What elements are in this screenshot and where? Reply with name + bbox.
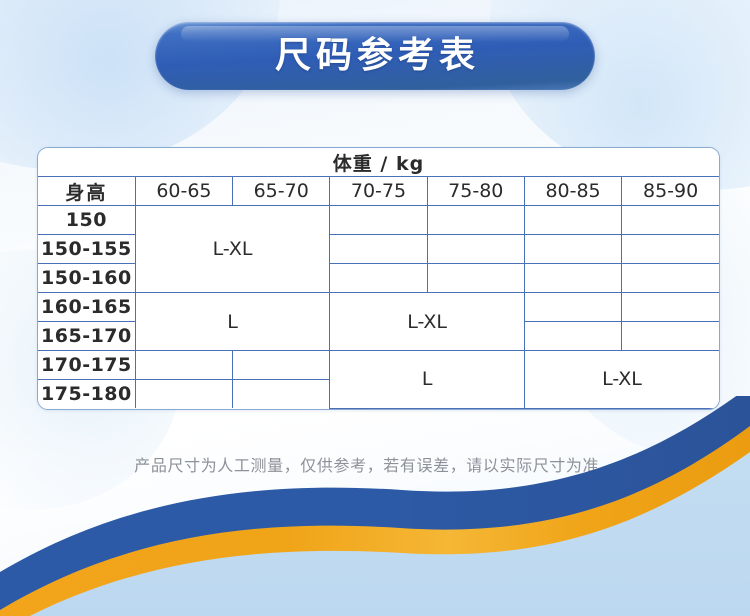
empty-cell bbox=[622, 235, 719, 264]
empty-cell bbox=[330, 206, 427, 235]
empty-cell bbox=[622, 264, 719, 293]
empty-cell bbox=[524, 322, 621, 351]
height-header-cell: 身高 bbox=[38, 177, 135, 206]
weight-column-header-65-70: 65-70 bbox=[233, 177, 330, 206]
empty-cell bbox=[233, 351, 330, 380]
size-cell-l-b: L bbox=[330, 351, 525, 409]
height-row-label-165-170: 165-170 bbox=[38, 322, 135, 351]
empty-cell bbox=[330, 235, 427, 264]
empty-cell bbox=[622, 293, 719, 322]
empty-cell bbox=[427, 235, 524, 264]
empty-cell bbox=[622, 206, 719, 235]
size-cell-l-a: L bbox=[135, 293, 330, 351]
empty-cell bbox=[524, 235, 621, 264]
size-chart-table: 体重 / kg 身高 60-65 65-70 70-75 75-80 80-85… bbox=[38, 148, 719, 409]
empty-cell bbox=[233, 380, 330, 409]
page-title-badge: 尺码参考表 bbox=[155, 22, 595, 90]
weight-column-header-75-80: 75-80 bbox=[427, 177, 524, 206]
height-row-label-150-155: 150-155 bbox=[38, 235, 135, 264]
empty-cell bbox=[524, 206, 621, 235]
empty-cell bbox=[330, 264, 427, 293]
page-title-container: 尺码参考表 bbox=[0, 22, 750, 90]
weight-column-header-60-65: 60-65 bbox=[135, 177, 232, 206]
wave-pale-fill bbox=[0, 418, 750, 616]
height-row-label-150-160: 150-160 bbox=[38, 264, 135, 293]
empty-cell bbox=[427, 264, 524, 293]
weight-column-header-80-85: 80-85 bbox=[524, 177, 621, 206]
height-row-label-160-165: 160-165 bbox=[38, 293, 135, 322]
size-cell-l-xl-a: L-XL bbox=[135, 206, 330, 293]
table-row: 150 L-XL bbox=[38, 206, 719, 235]
empty-cell bbox=[427, 206, 524, 235]
height-row-label-175-180: 175-180 bbox=[38, 380, 135, 409]
wave-gold-ribbon bbox=[0, 410, 750, 616]
table-row-column-headers: 身高 60-65 65-70 70-75 75-80 80-85 85-90 bbox=[38, 177, 719, 206]
size-cell-l-xl-b: L-XL bbox=[330, 293, 525, 351]
empty-cell bbox=[524, 293, 621, 322]
table-row-weight-title: 体重 / kg bbox=[38, 148, 719, 177]
size-cell-l-xl-c: L-XL bbox=[524, 351, 719, 409]
empty-cell bbox=[622, 322, 719, 351]
wave-blue-ribbon bbox=[0, 396, 750, 610]
weight-header-cell: 体重 / kg bbox=[38, 148, 719, 177]
measurement-disclaimer: 产品尺寸为人工测量，仅供参考，若有误差，请以实际尺寸为准。 bbox=[0, 452, 750, 476]
page-title: 尺码参考表 bbox=[270, 38, 480, 74]
weight-column-header-85-90: 85-90 bbox=[622, 177, 719, 206]
weight-column-header-70-75: 70-75 bbox=[330, 177, 427, 206]
bottom-wave-decoration bbox=[0, 396, 750, 616]
height-row-label-150: 150 bbox=[38, 206, 135, 235]
empty-cell bbox=[135, 380, 232, 409]
empty-cell bbox=[135, 351, 232, 380]
empty-cell bbox=[524, 264, 621, 293]
size-chart-card: 体重 / kg 身高 60-65 65-70 70-75 75-80 80-85… bbox=[37, 147, 720, 410]
table-row: 160-165 L L-XL bbox=[38, 293, 719, 322]
table-row: 170-175 L L-XL bbox=[38, 351, 719, 380]
height-row-label-170-175: 170-175 bbox=[38, 351, 135, 380]
